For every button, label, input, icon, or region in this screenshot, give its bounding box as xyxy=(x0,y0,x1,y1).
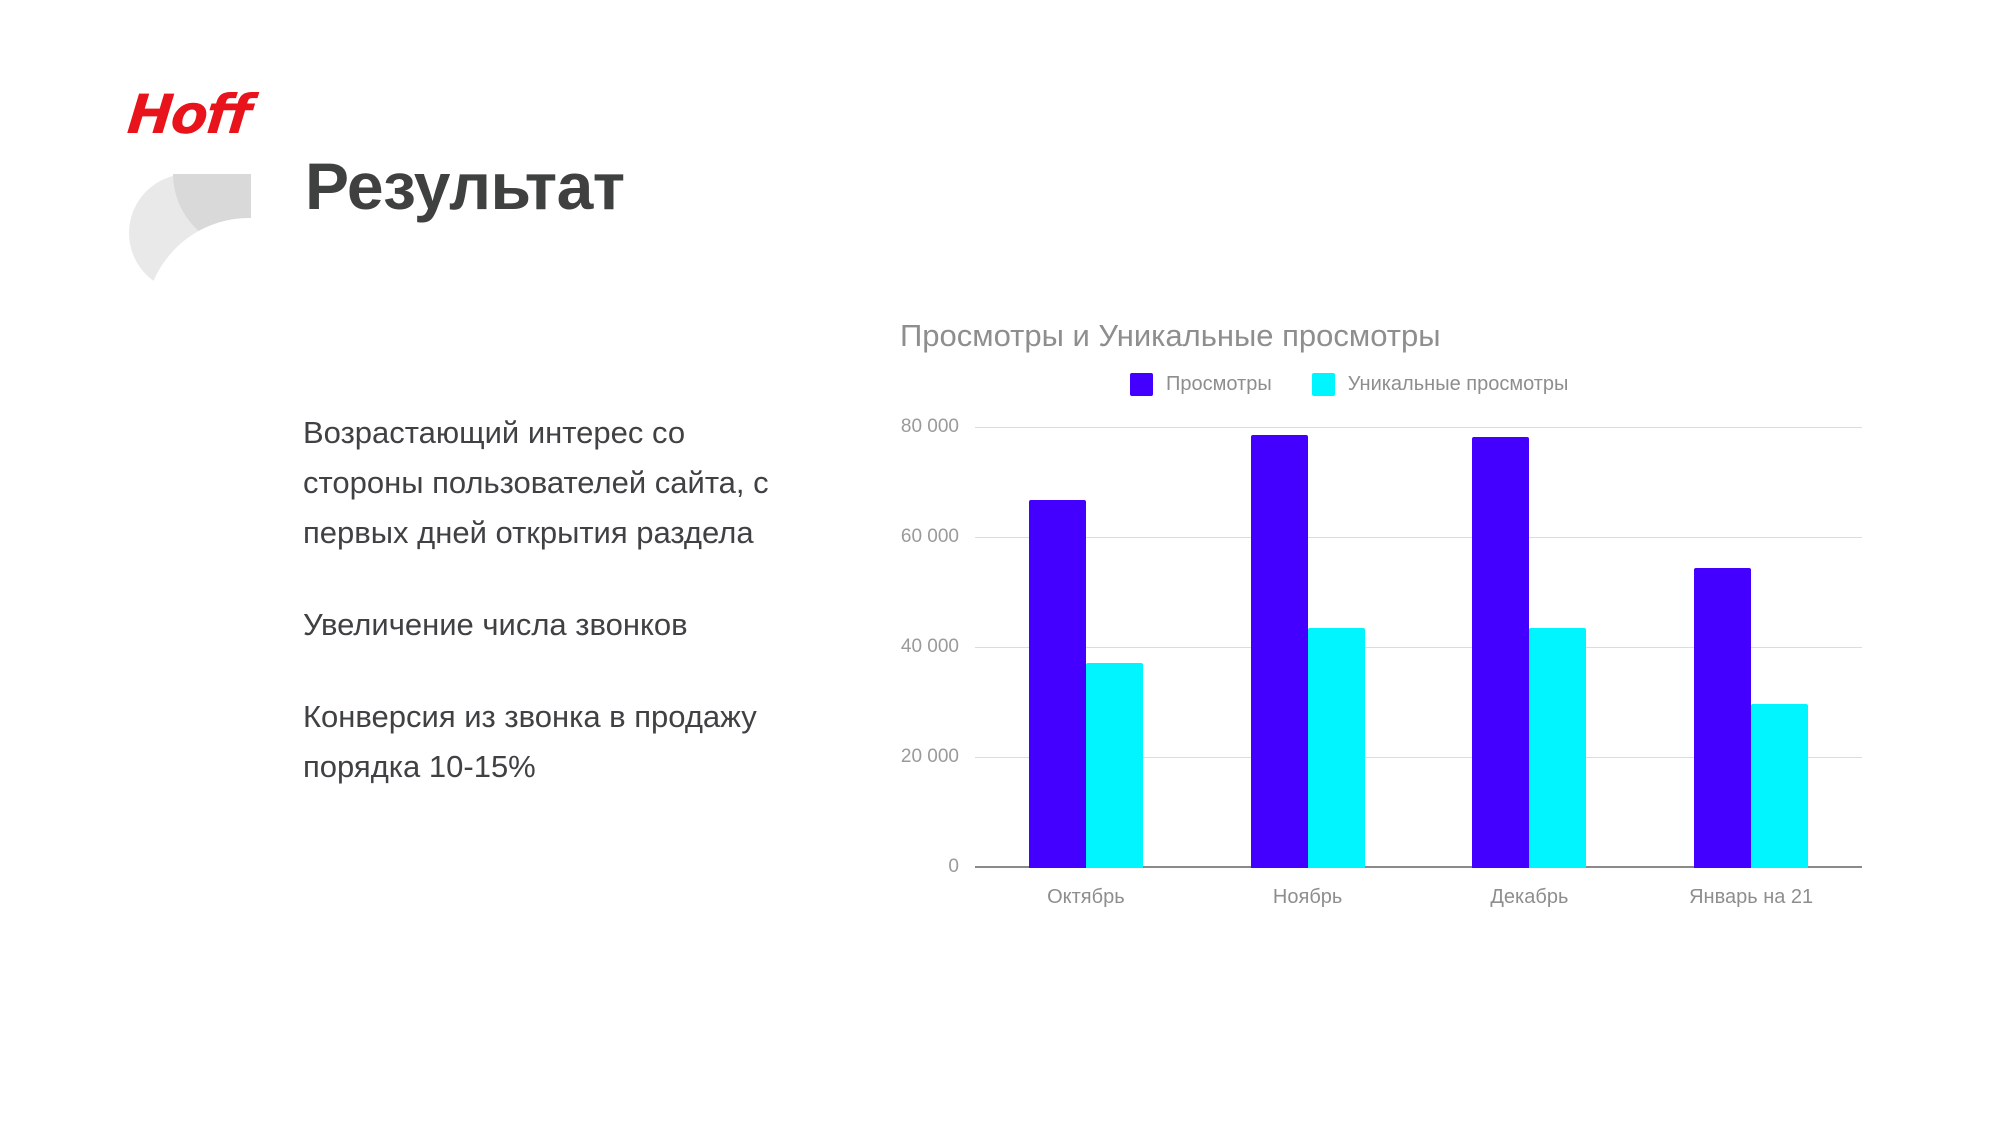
bar-group: Октябрь xyxy=(975,428,1197,868)
x-axis-tick-label: Декабрь xyxy=(1490,886,1568,909)
views-bar-chart: Просмотры и Уникальные просмотры Просмот… xyxy=(900,318,1900,918)
x-axis-tick-label: Январь на 21 xyxy=(1689,886,1813,909)
legend-item-views[interactable]: Просмотры xyxy=(1130,373,1272,396)
plot-area: 020 00040 00060 00080 000 ОктябрьНоябрьД… xyxy=(975,428,1862,868)
quarter-arc-mark-icon xyxy=(129,174,251,292)
bar[interactable] xyxy=(1529,628,1586,868)
bar[interactable] xyxy=(1251,435,1308,868)
bar-group: Январь на 21 xyxy=(1640,428,1862,868)
bar[interactable] xyxy=(1751,704,1808,868)
bar[interactable] xyxy=(1308,628,1365,868)
copy-paragraph: Увеличение числа звонков xyxy=(303,600,773,650)
copy-paragraph: Возрастающий интерес со стороны пользова… xyxy=(303,408,773,558)
chart-title: Просмотры и Уникальные просмотры xyxy=(900,318,1440,354)
y-axis-tick-label: 20 000 xyxy=(901,746,959,768)
chart-legend: Просмотры Уникальные просмотры xyxy=(1130,373,1568,396)
y-axis-tick-label: 60 000 xyxy=(901,526,959,548)
legend-item-unique-views[interactable]: Уникальные просмотры xyxy=(1312,373,1569,396)
page-title: Результат xyxy=(305,148,625,224)
legend-swatch-icon xyxy=(1130,373,1153,396)
y-axis-tick-label: 40 000 xyxy=(901,636,959,658)
copy-paragraph: Конверсия из звонка в продажу порядка 10… xyxy=(303,692,773,792)
hoff-wordmark: Hoff xyxy=(125,88,261,142)
bar[interactable] xyxy=(1694,568,1751,868)
bar[interactable] xyxy=(1029,500,1086,869)
bar-group: Декабрь xyxy=(1419,428,1641,868)
legend-label: Уникальные просмотры xyxy=(1348,373,1569,396)
summary-copy: Возрастающий интерес со стороны пользова… xyxy=(303,408,773,792)
bar-group: Ноябрь xyxy=(1197,428,1419,868)
y-axis-tick-label: 80 000 xyxy=(901,416,959,438)
y-axis-tick-label: 0 xyxy=(948,856,959,878)
bar-groups: ОктябрьНоябрьДекабрьЯнварь на 21 xyxy=(975,428,1862,868)
x-axis-tick-label: Октябрь xyxy=(1047,886,1125,909)
x-axis-tick-label: Ноябрь xyxy=(1273,886,1342,909)
brand-logo: Hoff xyxy=(128,88,258,288)
bar[interactable] xyxy=(1472,437,1529,868)
bar[interactable] xyxy=(1086,663,1143,868)
legend-swatch-icon xyxy=(1312,373,1335,396)
legend-label: Просмотры xyxy=(1166,373,1272,396)
